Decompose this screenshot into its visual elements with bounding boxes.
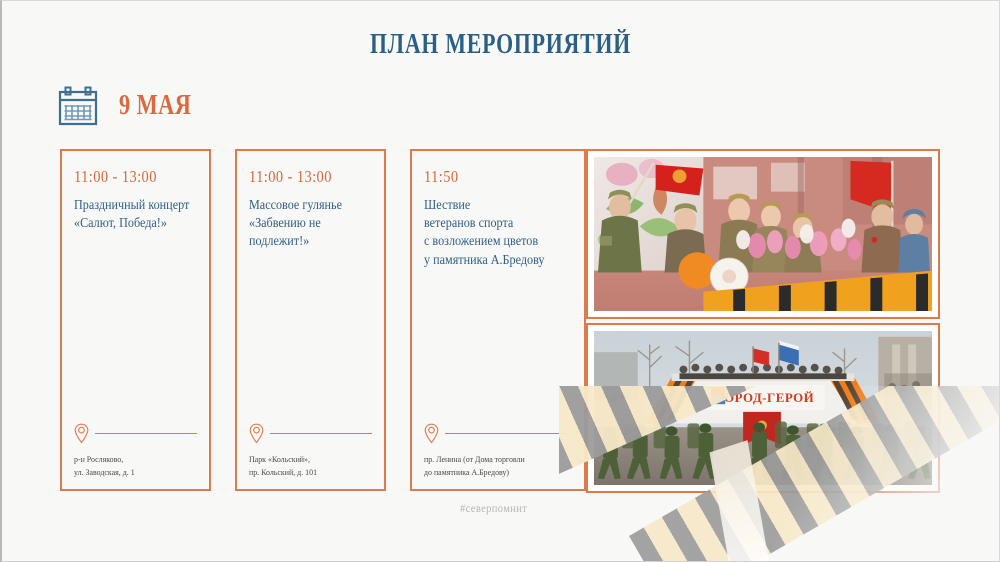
event-description-line: Массовое гулянье (249, 196, 373, 214)
event-location: Парк «Кольский», пр. Кольский, д. 101 (249, 423, 372, 479)
photo-veterans-march (594, 157, 932, 311)
page-title: ПЛАН МЕРОПРИЯТИЙ (112, 29, 890, 61)
event-address: пр. Ленина (от Дома торговли до памятник… (424, 453, 571, 479)
event-card[interactable]: 11:00 - 13:00 Праздничный концерт «Салют… (60, 149, 211, 491)
event-address-line: Парк «Кольский», (249, 453, 371, 466)
map-pin-icon (74, 423, 89, 444)
event-description: Шествие ветеранов спорта с возложением ц… (424, 196, 573, 269)
event-description-line: у памятника А.Бредову (424, 251, 573, 269)
location-divider (270, 433, 372, 434)
event-description-line: «Салют, Победа!» (74, 214, 198, 232)
photo-frame-top[interactable] (586, 149, 940, 319)
event-description-line: Шествие (424, 196, 573, 214)
event-description: Массовое гулянье «Забвению не подлежит!» (249, 196, 373, 251)
event-description-line: «Забвению не подлежит!» (249, 214, 373, 250)
hashtag-label: #северпомнит (460, 501, 527, 516)
date-label: 9 МАЯ (119, 90, 191, 122)
location-pin-row (249, 423, 372, 444)
event-location: р-н Росляково, ул. Заводская, д. 1 (74, 423, 197, 479)
event-address-line: до памятника А.Бредову) (424, 466, 571, 479)
event-description-line: Праздничный концерт (74, 196, 198, 214)
event-address-line: пр. Ленина (от Дома торговли (424, 453, 571, 466)
photo-frame-bottom[interactable]: ГОРОД-ГЕРОЙ (586, 323, 940, 493)
slide-canvas: ПЛАН МЕРОПРИЯТИЙ (0, 0, 1000, 562)
photo-gallery: ГОРОД-ГЕРОЙ (586, 149, 940, 493)
parade-banner-text: ГОРОД-ГЕРОЙ (716, 391, 814, 405)
calendar-icon (57, 85, 99, 127)
event-card-list: 11:00 - 13:00 Праздничный концерт «Салют… (60, 149, 586, 491)
event-description: Праздничный концерт «Салют, Победа!» (74, 196, 198, 232)
event-address-line: ул. Заводская, д. 1 (74, 466, 196, 479)
event-address: р-н Росляково, ул. Заводская, д. 1 (74, 453, 196, 479)
event-time: 11:00 - 13:00 (74, 167, 179, 187)
map-pin-icon (424, 423, 439, 444)
event-address-line: пр. Кольский, д. 101 (249, 466, 371, 479)
photo-military-parade: ГОРОД-ГЕРОЙ (594, 331, 932, 485)
location-divider (445, 433, 572, 434)
location-divider (95, 433, 197, 434)
event-description-line: с возложением цветов (424, 232, 573, 250)
event-address-line: р-н Росляково, (74, 453, 196, 466)
event-time: 11:50 (424, 167, 550, 187)
event-description-line: ветеранов спорта (424, 214, 573, 232)
location-pin-row (424, 423, 572, 444)
event-address: Парк «Кольский», пр. Кольский, д. 101 (249, 453, 371, 479)
event-card[interactable]: 11:50 Шествие ветеранов спорта с возложе… (410, 149, 586, 491)
map-pin-icon (249, 423, 264, 444)
event-time: 11:00 - 13:00 (249, 167, 354, 187)
date-header: 9 МАЯ (57, 85, 209, 127)
event-card[interactable]: 11:00 - 13:00 Массовое гулянье «Забвению… (235, 149, 386, 491)
location-pin-row (74, 423, 197, 444)
event-location: пр. Ленина (от Дома торговли до памятник… (424, 423, 572, 479)
